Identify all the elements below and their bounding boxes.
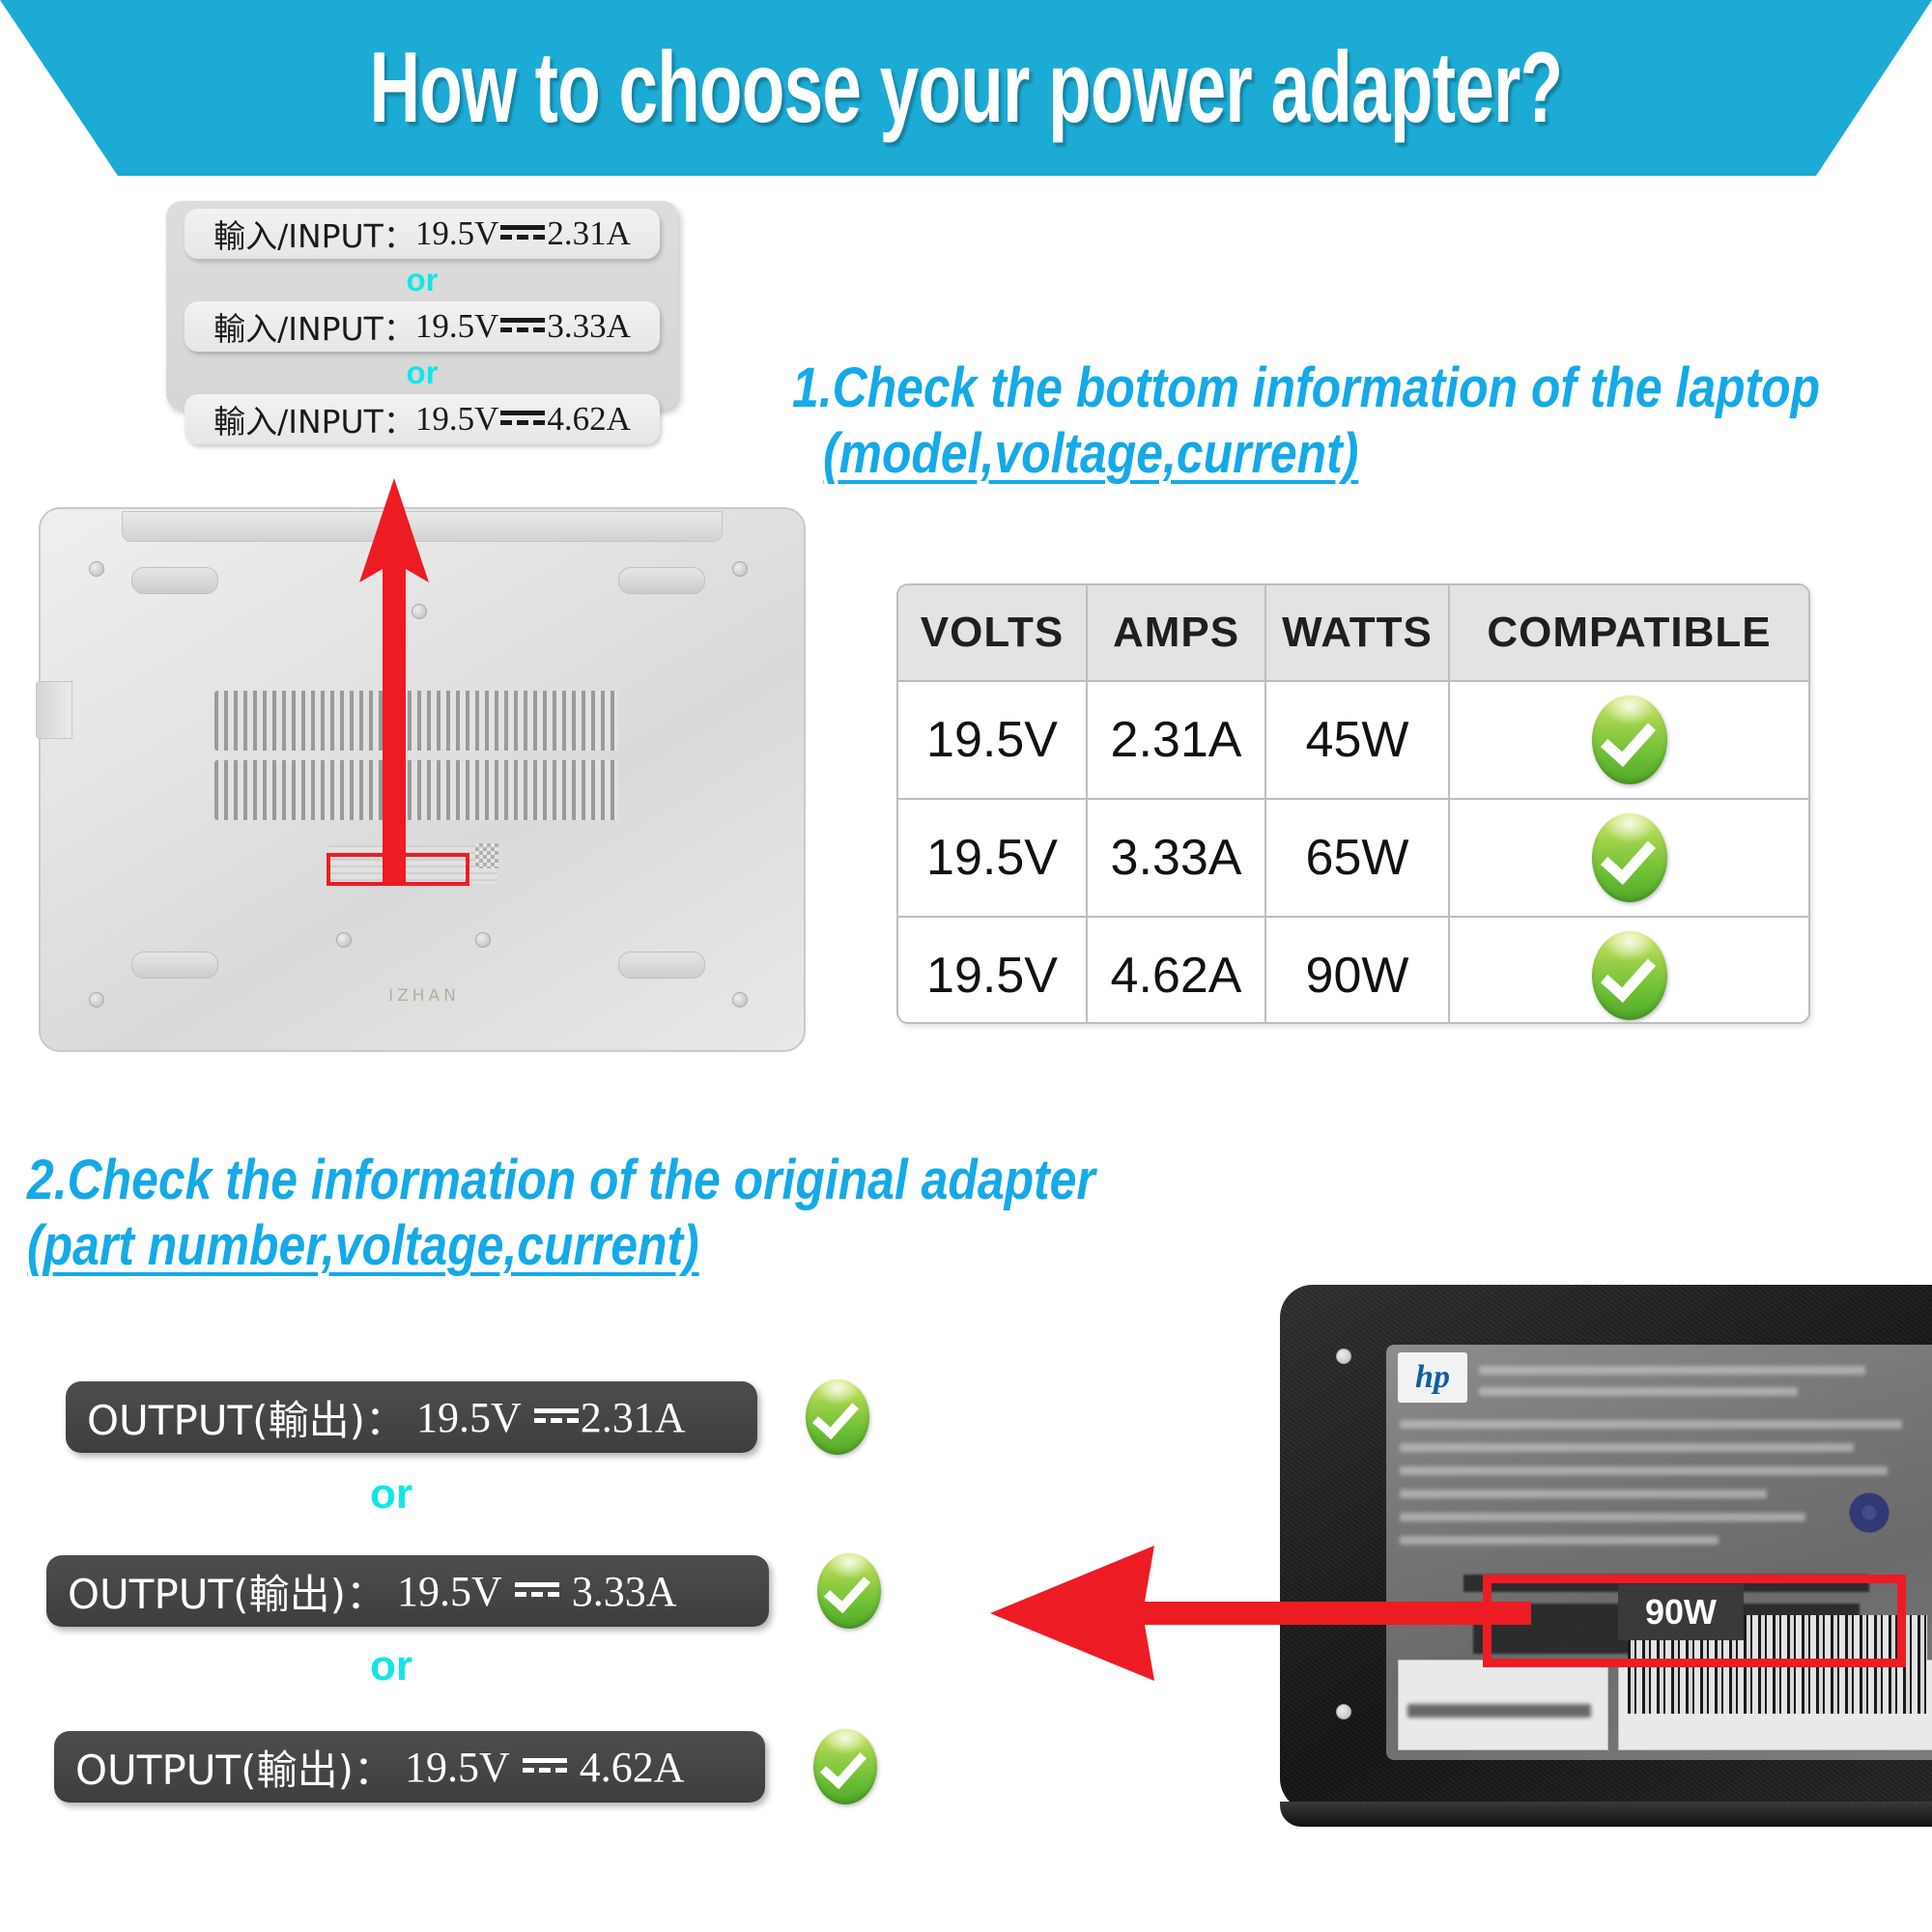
- output-label-3: OUTPUT(輸出)：: [75, 1738, 394, 1797]
- adapter-red-arrow-icon: [990, 1526, 1531, 1700]
- cell-watts: 45W: [1265, 681, 1449, 799]
- output-spec-row-3: OUTPUT(輸出)： 19.5V 4.62A: [54, 1729, 877, 1804]
- step-2-line-1: 2.Check the information of the original …: [27, 1148, 1095, 1213]
- barcode: [1628, 1669, 1927, 1714]
- hp-adapter-photo: hp 90W: [1280, 1285, 1932, 1811]
- laptop-foot: [618, 952, 705, 979]
- cell-amps: 2.31A: [1087, 681, 1265, 799]
- dc-symbol-icon: [500, 408, 545, 431]
- green-check-icon: [1592, 696, 1667, 784]
- label-serial-text: [1407, 1704, 1591, 1718]
- cell-amps: 4.62A: [1087, 917, 1265, 1024]
- input-spec-row-1: 輸入/INPUT：19.5V2.31A: [185, 209, 660, 259]
- laptop-foot: [131, 952, 218, 979]
- compatibility-table: VOLTS AMPS WATTS COMPATIBLE 19.5V 2.31A …: [896, 583, 1810, 1024]
- output-volts-2: 19.5V: [397, 1567, 502, 1616]
- step-1-heading: 1.Check the bottom information of the la…: [792, 355, 1932, 487]
- output-amps-3: 4.62A: [580, 1743, 685, 1792]
- output-label-1: OUTPUT(輸出)：: [87, 1388, 406, 1447]
- green-check-icon: [817, 1553, 881, 1629]
- label-text-line: [1479, 1366, 1865, 1375]
- cell-compatible: [1449, 681, 1808, 799]
- dc-symbol-icon: [500, 222, 545, 245]
- input-spec-row-2: 輸入/INPUT：19.5V3.33A: [185, 301, 660, 352]
- output-or-separator-2: or: [324, 1642, 459, 1690]
- cell-compatible: [1449, 799, 1808, 917]
- output-spec-pill-1: OUTPUT(輸出)： 19.5V 2.31A: [66, 1381, 757, 1453]
- input-volts-1: 19.5V: [415, 214, 499, 253]
- green-check-icon: [806, 1379, 869, 1455]
- output-volts-3: 19.5V: [405, 1743, 510, 1792]
- cell-compatible: [1449, 917, 1808, 1024]
- cell-watts: 65W: [1265, 799, 1449, 917]
- laptop-bottom-photo: IZHAN: [39, 507, 802, 1048]
- dc-symbol-icon: [500, 315, 545, 338]
- adapter-bottom-edge: [1280, 1802, 1932, 1827]
- table-row: 19.5V 4.62A 90W: [898, 917, 1808, 1024]
- output-amps-2: 3.33A: [572, 1567, 677, 1616]
- laptop-foot: [131, 567, 218, 594]
- column-header-amps: AMPS: [1087, 585, 1265, 681]
- laptop-screw: [89, 992, 104, 1008]
- table-row: 19.5V 3.33A 65W: [898, 799, 1808, 917]
- laptop-qr-code: [475, 843, 498, 868]
- step-1-line-1: 1.Check the bottom information of the la…: [792, 355, 1820, 421]
- input-label-1: 輸入/INPUT：: [213, 211, 415, 257]
- laptop-brand-mark: IZHAN: [352, 986, 497, 1006]
- input-amps-3: 4.62A: [547, 400, 631, 439]
- cell-volts: 19.5V: [898, 681, 1087, 799]
- label-text-line: [1479, 1387, 1798, 1396]
- input-label-3: 輸入/INPUT：: [213, 396, 415, 442]
- label-text-line: [1400, 1420, 1902, 1429]
- output-spec-pill-3: OUTPUT(輸出)： 19.5V 4.62A: [54, 1731, 765, 1803]
- output-or-separator-1: or: [324, 1470, 459, 1519]
- step-1-line-2: (model,voltage,current): [823, 421, 1825, 487]
- wattage-tag: 90W: [1618, 1584, 1744, 1640]
- laptop-screw: [475, 932, 491, 948]
- label-text-line: [1400, 1466, 1888, 1475]
- input-amps-2: 3.33A: [547, 307, 631, 346]
- cell-volts: 19.5V: [898, 799, 1087, 917]
- output-spec-row-1: OUTPUT(輸出)： 19.5V 2.31A: [66, 1379, 869, 1455]
- cell-watts: 90W: [1265, 917, 1449, 1024]
- laptop-red-arrow-icon: [346, 478, 442, 884]
- green-check-icon: [1592, 931, 1667, 1020]
- hp-logo-icon: hp: [1398, 1352, 1467, 1403]
- column-header-compatible: COMPATIBLE: [1449, 585, 1808, 681]
- laptop-foot: [618, 567, 705, 594]
- cell-volts: 19.5V: [898, 917, 1087, 1024]
- adapter-screw: [1336, 1704, 1351, 1719]
- label-text-line: [1400, 1443, 1854, 1452]
- input-amps-1: 2.31A: [547, 214, 631, 253]
- page-title: How to choose your power adapter?: [290, 0, 1642, 182]
- adapter-certification-icons: [1724, 1488, 1927, 1538]
- dc-symbol-icon: [515, 1579, 559, 1603]
- output-amps-1: 2.31A: [581, 1393, 686, 1442]
- cell-amps: 3.33A: [1087, 799, 1265, 917]
- laptop-screw: [336, 932, 352, 948]
- dc-symbol-icon: [534, 1406, 579, 1429]
- column-header-watts: WATTS: [1265, 585, 1449, 681]
- step-2-line-2: (part number,voltage,current): [27, 1213, 1095, 1279]
- green-check-icon: [813, 1729, 877, 1804]
- output-spec-row-2: OUTPUT(輸出)： 19.5V 3.33A: [46, 1553, 881, 1629]
- green-check-icon: [1592, 813, 1667, 902]
- input-spec-row-3: 輸入/INPUT：19.5V4.62A: [185, 394, 660, 444]
- input-or-separator-2: or: [166, 355, 678, 391]
- label-text-line: [1400, 1490, 1767, 1498]
- laptop-screw: [89, 561, 104, 577]
- output-label-2: OUTPUT(輸出)：: [68, 1562, 386, 1621]
- step-2-heading: 2.Check the information of the original …: [27, 1148, 1269, 1279]
- input-volts-2: 19.5V: [415, 307, 499, 346]
- input-or-separator-1: or: [166, 262, 678, 298]
- table-row: 19.5V 2.31A 45W: [898, 681, 1808, 799]
- laptop-side-port: [36, 681, 72, 739]
- input-volts-3: 19.5V: [415, 400, 499, 439]
- laptop-screw: [732, 992, 748, 1008]
- column-header-volts: VOLTS: [898, 585, 1087, 681]
- input-label-2: 輸入/INPUT：: [213, 303, 415, 350]
- laptop-input-spec-panel: 輸入/INPUT：19.5V2.31A or 輸入/INPUT：19.5V3.3…: [166, 201, 678, 410]
- output-volts-1: 19.5V: [416, 1393, 522, 1442]
- table-header-row: VOLTS AMPS WATTS COMPATIBLE: [898, 585, 1808, 681]
- laptop-screw: [732, 561, 748, 577]
- adapter-screw: [1336, 1349, 1351, 1364]
- output-spec-pill-2: OUTPUT(輸出)： 19.5V 3.33A: [46, 1555, 769, 1627]
- dc-symbol-icon: [523, 1755, 567, 1778]
